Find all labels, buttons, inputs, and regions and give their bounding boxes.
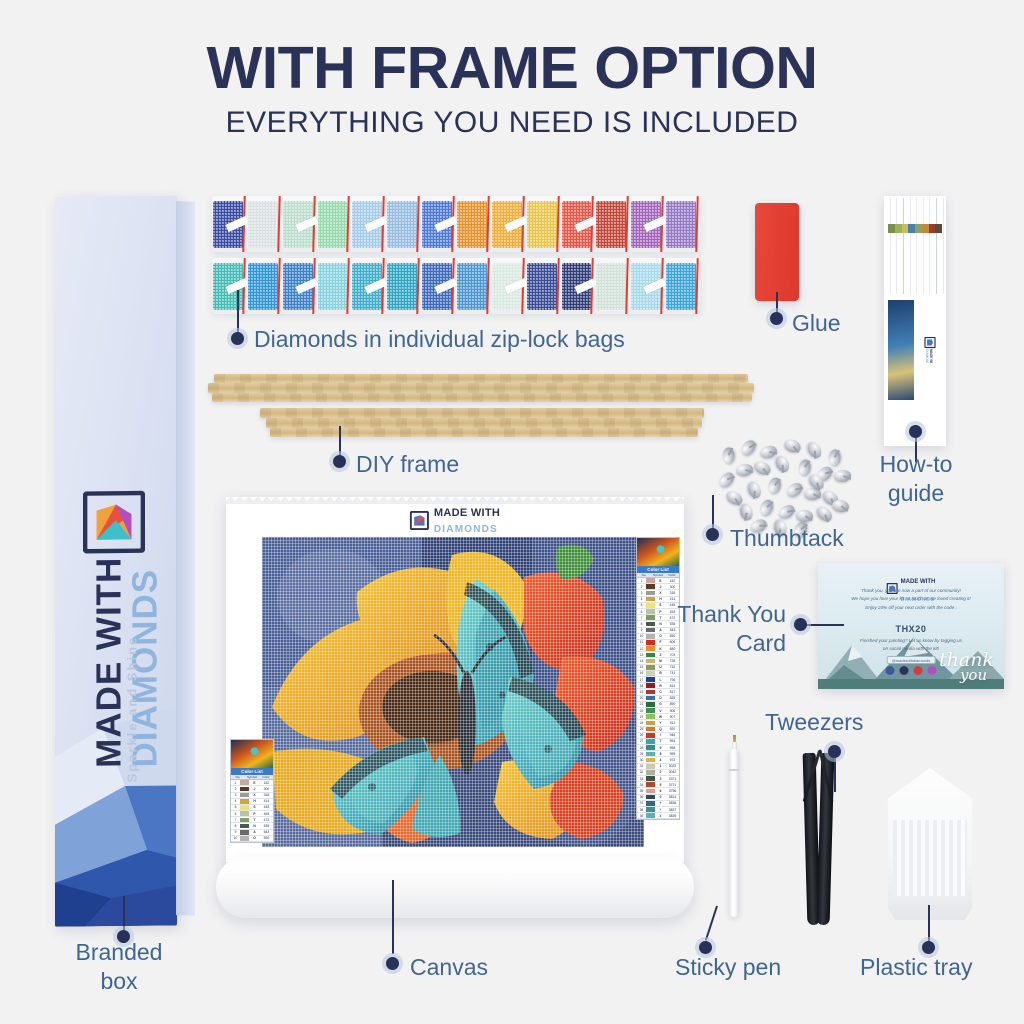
bag-zip-seal: [347, 196, 351, 252]
thumbtack-item: [735, 462, 754, 477]
thumbtack-item: [796, 509, 814, 522]
color-row-code: 920: [666, 727, 679, 731]
zip-bags-dot: [231, 332, 244, 345]
ziplock-bag: [665, 258, 700, 314]
color-row-number: 35: [637, 789, 646, 793]
color-row-swatch: [646, 591, 655, 596]
color-row-number: 20: [637, 696, 646, 700]
bag-zip-seal: [486, 258, 490, 314]
diy-frame-label: DIY frame: [356, 450, 536, 479]
canvas-logo-icon: [410, 511, 429, 530]
ziplock-bag: [386, 196, 421, 252]
color-row-code: 958: [666, 746, 679, 750]
color-row-swatch: [646, 659, 655, 664]
guide-color-chart: [884, 198, 946, 294]
color-list-title: Color List: [231, 768, 273, 775]
color-list-row: 39#3839: [637, 813, 679, 819]
thumbtack-item: [723, 448, 735, 465]
canvas-zigzag-top: [226, 497, 684, 504]
color-row-swatch: [646, 752, 655, 757]
frame-bar: [270, 428, 698, 437]
color-row-symbol: Q: [655, 727, 666, 731]
color-row-symbol: 7: [655, 739, 666, 743]
thumbtack-item: [828, 449, 841, 467]
color-row-code: 959: [666, 752, 679, 756]
color-row-code: 814: [666, 684, 679, 688]
thumbtack-item: [738, 502, 754, 522]
thank-you-card-dot: [794, 618, 807, 631]
bag-beads: [457, 201, 487, 248]
color-row-number: 30: [637, 758, 646, 762]
ziplock-bag: [456, 196, 491, 252]
color-row-number: 28: [637, 746, 646, 750]
frame-bar: [266, 418, 702, 428]
color-row-code: 318: [260, 793, 273, 797]
ziplock-bag: [595, 258, 630, 314]
color-row-number: 17: [637, 678, 646, 682]
thumbtack-item: [758, 498, 775, 518]
thumbtack-item: [784, 480, 805, 500]
color-row-number: 34: [637, 783, 646, 787]
bag-beads: [666, 263, 696, 310]
color-row-number: 10: [231, 836, 240, 840]
color-row-swatch: [240, 836, 249, 841]
color-row-number: 29: [637, 752, 646, 756]
thumbtack-item: [797, 459, 812, 478]
color-row-swatch: [646, 708, 655, 713]
color-row-symbol: A: [249, 830, 260, 834]
bag-zip-seal: [626, 196, 630, 252]
thumbtack-item: [739, 438, 759, 459]
canvas-logo-line2: DIAMONDS: [434, 524, 498, 535]
color-row-symbol: 2: [655, 770, 666, 774]
color-row-code: 472: [260, 818, 273, 822]
color-row-swatch: [646, 696, 655, 701]
ziplock-bag-row-bottom: [212, 258, 700, 314]
bag-zip-seal: [486, 196, 490, 252]
color-row-symbol: Y: [655, 721, 666, 725]
color-row-symbol: H: [249, 799, 260, 803]
color-row-symbol: *: [655, 808, 666, 812]
color-row-code: 3837: [666, 808, 679, 812]
color-row-code: 3836: [666, 801, 679, 805]
thumbtack-item: [752, 459, 773, 477]
color-row-number: 7: [231, 818, 240, 822]
color-row-swatch: [240, 824, 249, 829]
color-row-number: 4: [231, 799, 240, 803]
frame-bar: [208, 383, 754, 393]
guide-chart-swatches: [888, 224, 942, 233]
how-to-guide-product: MADE WITH DIAMONDS: [884, 196, 946, 446]
color-row-number: 1: [231, 781, 240, 785]
color-list-rows: 1E1522J3003X3184H4145S4456P4537T4728N535…: [231, 780, 273, 842]
bag-zip-seal: [695, 258, 699, 314]
color-row-symbol: I: [655, 733, 666, 737]
color-row-code: 318: [666, 591, 679, 595]
color-row-code: 954: [666, 739, 679, 743]
thumbtack-dot: [706, 528, 719, 541]
ziplock-bag: [595, 196, 630, 252]
bag-beads: [318, 263, 348, 310]
color-row-swatch: [646, 795, 655, 800]
color-row-swatch: [646, 683, 655, 688]
frame-bar: [212, 393, 752, 402]
tweezers-dot: [828, 745, 841, 758]
card-handle-text: @madewithdiamonds: [892, 658, 931, 663]
color-row-symbol: 0: [655, 795, 666, 799]
color-row-code: 543: [260, 830, 273, 834]
ziplock-bag: [630, 196, 665, 252]
bag-zip-seal: [695, 196, 699, 252]
bag-beads: [318, 201, 348, 248]
color-row-code: 3814: [666, 795, 679, 799]
ziplock-bag: [561, 196, 596, 252]
color-row-code: 3756: [666, 789, 679, 793]
facebook-icon: [886, 666, 895, 675]
color-row-symbol: J: [249, 787, 260, 791]
card-signature: thank you: [939, 653, 994, 681]
col-color: Color: [665, 573, 679, 577]
thumbtack-item: [716, 470, 736, 491]
color-row-symbol: V: [655, 709, 666, 713]
color-list-left: Color List No. Symbol Color 1E1522J3003X…: [230, 739, 274, 843]
bag-beads: [596, 201, 626, 248]
color-row-swatch: [646, 727, 655, 732]
card-social-icons: [886, 666, 937, 675]
color-row-swatch: [240, 799, 249, 804]
color-row-code: 152: [260, 781, 273, 785]
tweezers-label: Tweezers: [765, 708, 945, 737]
color-row-code: 300: [666, 585, 679, 589]
color-row-symbol: X: [655, 591, 666, 595]
svg-text:DIAMONDS: DIAMONDS: [925, 349, 929, 363]
card-social-handle: @madewithdiamonds: [887, 656, 936, 664]
color-row-symbol: +: [655, 801, 666, 805]
color-row-number: 38: [637, 808, 646, 812]
ziplock-bag: [491, 258, 526, 314]
zip-bags-leader: [237, 290, 239, 336]
color-row-swatch: [646, 677, 655, 682]
page-title: WITH FRAME OPTION: [0, 34, 1024, 102]
color-row-symbol: L: [655, 678, 666, 682]
col-symbol: Symbol: [245, 775, 259, 779]
color-row-number: 27: [637, 739, 646, 743]
color-row-symbol: 5: [655, 783, 666, 787]
color-row-code: 300: [260, 787, 273, 791]
color-row-symbol: B: [655, 671, 666, 675]
color-row-number: 8: [231, 824, 240, 828]
ziplock-bag-row-top: [212, 196, 700, 252]
branded-box-leader: [123, 896, 125, 934]
color-row-number: 22: [637, 709, 646, 713]
color-row-code: 825: [666, 696, 679, 700]
thumbtack-product: [716, 440, 846, 536]
color-row-symbol: M: [655, 659, 666, 663]
bag-beads: [457, 263, 487, 310]
bag-beads: [248, 201, 278, 248]
color-row-code: 946: [666, 733, 679, 737]
color-row-number: 21: [637, 702, 646, 706]
ziplock-bag: [247, 196, 282, 252]
plastic-tray-leader: [928, 905, 930, 945]
color-row-code: 741: [666, 671, 679, 675]
color-row-symbol: #: [655, 814, 666, 818]
bag-beads: [387, 201, 417, 248]
color-row-number: 16: [637, 671, 646, 675]
color-row-swatch: [646, 764, 655, 769]
diy-frame-leader: [339, 426, 341, 458]
color-row-number: 25: [637, 727, 646, 731]
how-to-guide-label: How-to guide: [845, 450, 987, 508]
color-row-swatch: [646, 690, 655, 695]
box-side-face: [176, 201, 195, 916]
ziplock-bag: [630, 258, 665, 314]
diamond-logo-icon: [83, 491, 145, 554]
color-row-swatch: [646, 807, 655, 812]
color-row-symbol: R: [655, 684, 666, 688]
color-row-code: 972: [666, 758, 679, 762]
branded-box-product: MADE WITH DIAMONDS Sparkle and Shine: [55, 195, 195, 926]
color-row-number: 6: [231, 812, 240, 816]
color-row-number: 1: [637, 579, 646, 583]
color-row-code: 3042: [666, 770, 679, 774]
color-row-code: 912: [666, 721, 679, 725]
color-row-code: 817: [666, 690, 679, 694]
box-brand-line1: MADE WITH: [91, 195, 127, 768]
col-no: No.: [231, 775, 245, 779]
color-row-swatch: [646, 758, 655, 763]
canvas-label: Canvas: [410, 953, 590, 982]
color-row-swatch: [646, 782, 655, 787]
color-row-swatch: [646, 739, 655, 744]
tweezers-leader: [834, 752, 836, 792]
color-row-number: 36: [637, 795, 646, 799]
color-row-swatch: [240, 830, 249, 835]
ziplock-bag: [526, 196, 561, 252]
ziplock-bag: [212, 196, 247, 252]
color-row-swatch: [646, 813, 655, 818]
canvas-logo-line1: MADE WITH: [434, 507, 500, 519]
color-row-number: 18: [637, 684, 646, 688]
color-row-number: 19: [637, 690, 646, 694]
glue-label: Glue: [792, 309, 892, 338]
bag-zip-seal: [347, 258, 351, 314]
ziplock-bag: [351, 196, 386, 252]
color-row-code: 535: [260, 824, 273, 828]
color-row-symbol: T: [249, 818, 260, 822]
color-row-symbol: X: [249, 793, 260, 797]
color-row-number: 14: [637, 659, 646, 663]
bag-beads: [527, 263, 557, 310]
canvas-roll: [216, 856, 694, 918]
ziplock-bag: [386, 258, 421, 314]
color-list-right: Color List No. Symbol Color 1E1522J3003X…: [636, 537, 680, 820]
sticky-pen-product: [727, 735, 741, 920]
color-row-code: 890: [666, 702, 679, 706]
color-row-symbol: 3: [655, 777, 666, 781]
thumbtack-item: [773, 454, 791, 475]
color-row-swatch: [646, 721, 655, 726]
color-row-symbol: O: [249, 836, 260, 840]
canvas-logo: MADE WITH DIAMONDS: [410, 504, 500, 536]
glue-dot: [770, 312, 783, 325]
thumbtack-leader: [712, 495, 714, 531]
color-row-swatch: [240, 793, 249, 798]
canvas-product: MADE WITH DIAMONDS: [226, 497, 684, 869]
color-row-code: 907: [666, 715, 679, 719]
color-row-symbol: G: [655, 702, 666, 706]
color-row-swatch: [646, 584, 655, 589]
instagram-icon: [928, 666, 937, 675]
color-row-number: 39: [637, 814, 646, 818]
pinterest-icon: [914, 666, 923, 675]
color-row-symbol: W: [655, 715, 666, 719]
pen-barrel: [729, 749, 739, 917]
svg-text:MADE WITH: MADE WITH: [929, 349, 933, 363]
frame-bar: [260, 408, 704, 418]
sticky-pen-label: Sticky pen: [675, 953, 865, 982]
color-row-number: 37: [637, 801, 646, 805]
color-row-swatch: [646, 745, 655, 750]
bag-beads: [248, 263, 278, 310]
thank-you-card-label: Thank You Card: [618, 600, 786, 658]
color-row-swatch: [646, 801, 655, 806]
color-row-swatch: [240, 818, 249, 823]
bag-zip-seal: [416, 196, 420, 252]
color-row-symbol: 1: [655, 764, 666, 768]
color-list-title: Color List: [637, 566, 679, 573]
ziplock-bag: [351, 258, 386, 314]
bag-zip-seal: [626, 258, 630, 314]
color-row-number: 3: [637, 591, 646, 595]
ziplock-bag: [247, 258, 282, 314]
bag-beads: [596, 263, 626, 310]
ziplock-bag: [282, 258, 317, 314]
plastic-tray-product: [868, 768, 992, 920]
canvas-dot: [386, 957, 399, 970]
ziplock-bag: [317, 258, 352, 314]
ziplock-bag: [665, 196, 700, 252]
color-row-code: 152: [666, 579, 679, 583]
color-row-number: 32: [637, 770, 646, 774]
color-row-code: 732: [666, 665, 679, 669]
card-discount-code: THX20: [818, 624, 1004, 634]
color-row-symbol: 9: [655, 746, 666, 750]
diy-frame-product: [208, 372, 756, 450]
thumbtack-item: [782, 437, 802, 454]
color-row-code: 3371: [666, 777, 679, 781]
ziplock-bag: [526, 258, 561, 314]
color-list-row: 10O550: [231, 836, 273, 842]
color-row-number: 26: [637, 733, 646, 737]
bag-zip-seal: [416, 258, 420, 314]
color-row-number: 3: [231, 793, 240, 797]
color-row-code: 3721: [666, 783, 679, 787]
glue-product: [755, 203, 799, 301]
bag-beads: [666, 201, 696, 248]
ziplock-bag: [561, 258, 596, 314]
canvas-artwork: [262, 537, 644, 847]
ziplock-bag: [456, 258, 491, 314]
color-row-swatch: [646, 770, 655, 775]
page-subtitle: EVERYTHING YOU NEED IS INCLUDED: [0, 106, 1024, 140]
color-row-symbol: 4: [655, 758, 666, 762]
guide-logo-icon: MADE WITH DIAMONDS: [903, 337, 946, 363]
color-row-swatch: [240, 787, 249, 792]
diy-frame-dot: [333, 455, 346, 468]
how-to-guide-dot: [909, 425, 922, 438]
ziplock-bag: [421, 196, 456, 252]
zip-bags-label: Diamonds in individual zip-lock bags: [254, 325, 684, 354]
color-row-symbol: P: [249, 812, 260, 816]
color-row-symbol: E: [249, 781, 260, 785]
color-row-symbol: 6: [655, 789, 666, 793]
color-row-code: 906: [666, 709, 679, 713]
color-row-number: 2: [637, 585, 646, 589]
color-row-symbol: 8: [655, 752, 666, 756]
plastic-tray-label: Plastic tray: [860, 953, 1024, 982]
color-list-thumbnail: [637, 538, 679, 566]
ziplock-bag: [282, 196, 317, 252]
color-row-number: 33: [637, 777, 646, 781]
artwork-image: [262, 537, 644, 847]
frame-bar: [214, 374, 748, 383]
ziplock-bag: [212, 258, 247, 314]
color-row-symbol: D: [655, 696, 666, 700]
ziplock-bag: [491, 196, 526, 252]
color-row-code: 445: [260, 805, 273, 809]
color-row-symbol: N: [249, 824, 260, 828]
color-row-swatch: [646, 665, 655, 670]
twitter-icon: [900, 666, 909, 675]
color-row-code: 453: [260, 812, 273, 816]
color-row-code: 550: [260, 836, 273, 840]
sticky-pen-leader: [705, 906, 718, 941]
bag-beads: [527, 201, 557, 248]
color-row-code: 3023: [666, 764, 679, 768]
color-row-number: 9: [231, 830, 240, 834]
ziplock-bag: [317, 196, 352, 252]
color-row-swatch: [240, 811, 249, 816]
color-row-swatch: [240, 780, 249, 785]
color-row-symbol: J: [655, 585, 666, 589]
color-row-symbol: E: [655, 579, 666, 583]
color-row-swatch: [646, 776, 655, 781]
color-row-code: 3839: [666, 814, 679, 818]
color-row-swatch: [646, 733, 655, 738]
color-row-symbol: S: [249, 805, 260, 809]
color-row-swatch: [646, 789, 655, 794]
color-list-thumbnail: [231, 740, 273, 768]
box-tagline: Sparkle and Shine: [125, 572, 140, 782]
color-row-number: 23: [637, 715, 646, 719]
pen-band: [729, 769, 739, 771]
color-row-number: 5: [231, 805, 240, 809]
branded-box-label: Branded box: [46, 938, 192, 996]
color-row-swatch: [646, 714, 655, 719]
ziplock-bag: [421, 258, 456, 314]
canvas-leader: [392, 880, 394, 954]
col-symbol: Symbol: [651, 573, 665, 577]
card-logo-line1: MADE WITH: [901, 579, 936, 585]
col-no: No.: [637, 573, 651, 577]
thumbtack-item: [746, 480, 763, 500]
color-row-number: 24: [637, 721, 646, 725]
col-color: Color: [259, 775, 273, 779]
bag-beads: [387, 263, 417, 310]
color-row-number: 31: [637, 764, 646, 768]
color-row-swatch: [646, 702, 655, 707]
